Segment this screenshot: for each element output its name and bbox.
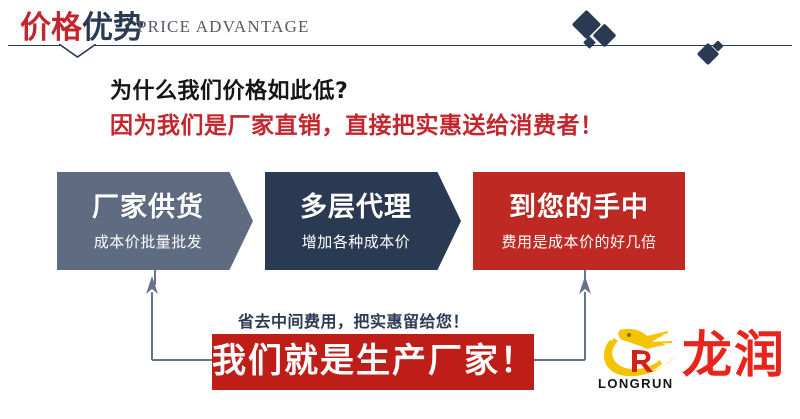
- connector-left: [152, 270, 212, 360]
- connector-right-arrowhead-icon: [579, 276, 591, 294]
- savings-slogan: 省去中间费用，把实惠留给您！: [238, 308, 469, 332]
- connector-right: [534, 270, 585, 360]
- logo-chinese-name: 龙润: [682, 330, 786, 380]
- price-advantage-banner: 价格优势 PRICE ADVANTAGE 为什么我们价格如此低? 因为我们是厂家…: [0, 0, 800, 419]
- factory-claim-text: 我们就是生产厂家！: [212, 343, 534, 380]
- dragon-emblem-icon: [596, 326, 682, 382]
- logo-latin-name: LONGRUN: [598, 376, 674, 391]
- factory-claim-banner: 我们就是生产厂家！: [212, 334, 534, 390]
- company-logo: 龙润 LONGRUN: [596, 326, 796, 412]
- connector-left-arrowhead-icon: [146, 276, 158, 294]
